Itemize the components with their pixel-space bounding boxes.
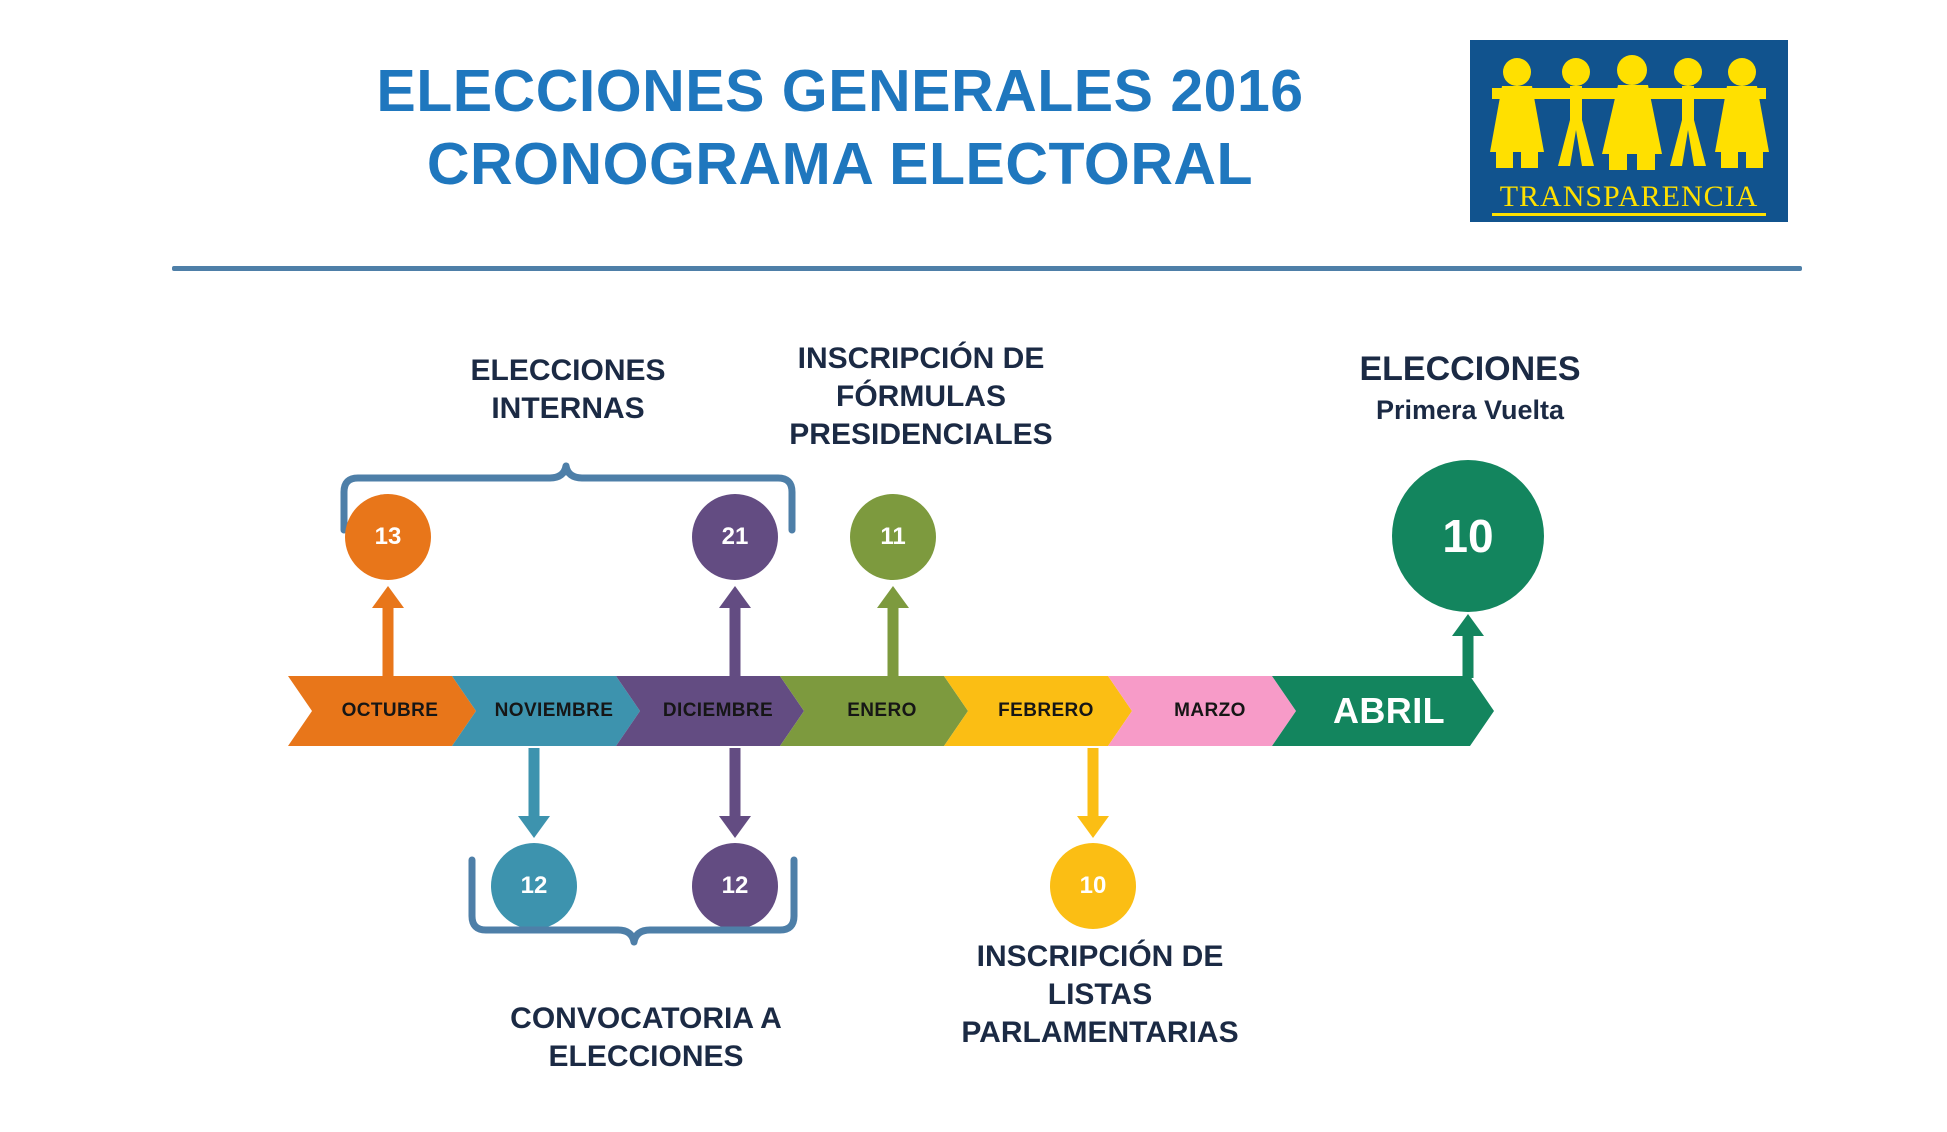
marker-dec-21[interactable]: 21 <box>692 494 778 580</box>
month-label-octubre: OCTUBRE <box>342 700 439 722</box>
callout-convocatoria: CONVOCATORIA A ELECCIONES <box>476 1000 816 1076</box>
callout-listas-parlamentarias: INSCRIPCIÓN DE LISTAS PARLAMENTARIAS <box>940 938 1260 1052</box>
marker-feb-10[interactable]: 10 <box>1050 843 1136 929</box>
slide-canvas: ELECCIONES GENERALES 2016 CRONOGRAMA ELE… <box>0 0 1947 1132</box>
arrow-up-dec <box>721 586 749 678</box>
callout-formulas-line-3: PRESIDENCIALES <box>766 416 1076 454</box>
callout-listas-line-1: INSCRIPCIÓN DE <box>940 938 1260 976</box>
callout-elecciones-internas: ELECCIONES INTERNAS <box>398 352 738 428</box>
arrow-down-dec <box>721 748 749 838</box>
callout-elecciones-title: ELECCIONES <box>1300 348 1640 391</box>
month-label-enero: ENERO <box>847 700 917 722</box>
arrow-down-feb <box>1079 748 1107 838</box>
marker-apr-10-label: 10 <box>1442 509 1493 563</box>
month-segment-febrero[interactable]: FEBRERO <box>944 676 1132 746</box>
logo-graphic: TRANSPARENCIA <box>1470 40 1788 222</box>
callout-formulas-line-1: INSCRIPCIÓN DE <box>766 340 1076 378</box>
month-segment-noviembre[interactable]: NOVIEMBRE <box>452 676 640 746</box>
marker-oct-13[interactable]: 13 <box>345 494 431 580</box>
marker-oct-13-label: 13 <box>375 523 402 551</box>
brace-convocatoria-elecciones <box>466 860 806 946</box>
month-segment-octubre[interactable]: OCTUBRE <box>288 676 476 746</box>
callout-listas-line-2: LISTAS <box>940 976 1260 1014</box>
arrow-up-oct <box>374 586 402 678</box>
arrow-up-jan <box>879 586 907 678</box>
month-label-febrero: FEBRERO <box>998 700 1094 722</box>
title-line-2: CRONOGRAMA ELECTORAL <box>250 128 1430 201</box>
arrow-up-apr <box>1454 614 1482 678</box>
transparencia-logo: TRANSPARENCIA <box>1470 40 1788 222</box>
callout-listas-line-3: PARLAMENTARIAS <box>940 1014 1260 1052</box>
month-label-noviembre: NOVIEMBRE <box>495 700 614 722</box>
callout-formulas-line-2: FÓRMULAS <box>766 378 1076 416</box>
callout-primera-vuelta-sub: Primera Vuelta <box>1300 393 1640 427</box>
page-title: ELECCIONES GENERALES 2016 CRONOGRAMA ELE… <box>250 55 1430 200</box>
marker-feb-10-label: 10 <box>1080 872 1107 900</box>
month-segment-abril[interactable]: ABRIL <box>1272 676 1494 746</box>
callout-formulas-presidenciales: INSCRIPCIÓN DE FÓRMULAS PRESIDENCIALES <box>766 340 1076 454</box>
month-label-marzo: MARZO <box>1174 700 1246 722</box>
month-segment-diciembre[interactable]: DICIEMBRE <box>616 676 804 746</box>
callout-convocatoria-line-2: ELECCIONES <box>476 1038 816 1076</box>
month-segment-enero[interactable]: ENERO <box>780 676 968 746</box>
month-segment-marzo[interactable]: MARZO <box>1108 676 1296 746</box>
logo-caption: TRANSPARENCIA <box>1500 180 1759 213</box>
arrow-down-nov <box>520 748 548 838</box>
marker-apr-10[interactable]: 10 <box>1392 460 1544 612</box>
marker-jan-11[interactable]: 11 <box>850 494 936 580</box>
callout-elecciones-primera-vuelta: ELECCIONES <box>1300 348 1640 391</box>
callout-internas-line-2: INTERNAS <box>398 390 738 428</box>
header-divider <box>172 266 1802 271</box>
title-line-1: ELECCIONES GENERALES 2016 <box>250 55 1430 128</box>
callout-convocatoria-line-1: CONVOCATORIA A <box>476 1000 816 1038</box>
month-label-abril: ABRIL <box>1333 690 1445 732</box>
month-label-diciembre: DICIEMBRE <box>663 700 773 722</box>
marker-dec-21-label: 21 <box>722 523 749 551</box>
callout-elecciones-subtitle: Primera Vuelta <box>1300 393 1640 427</box>
marker-jan-11-label: 11 <box>880 523 905 551</box>
callout-internas-line-1: ELECCIONES <box>398 352 738 390</box>
